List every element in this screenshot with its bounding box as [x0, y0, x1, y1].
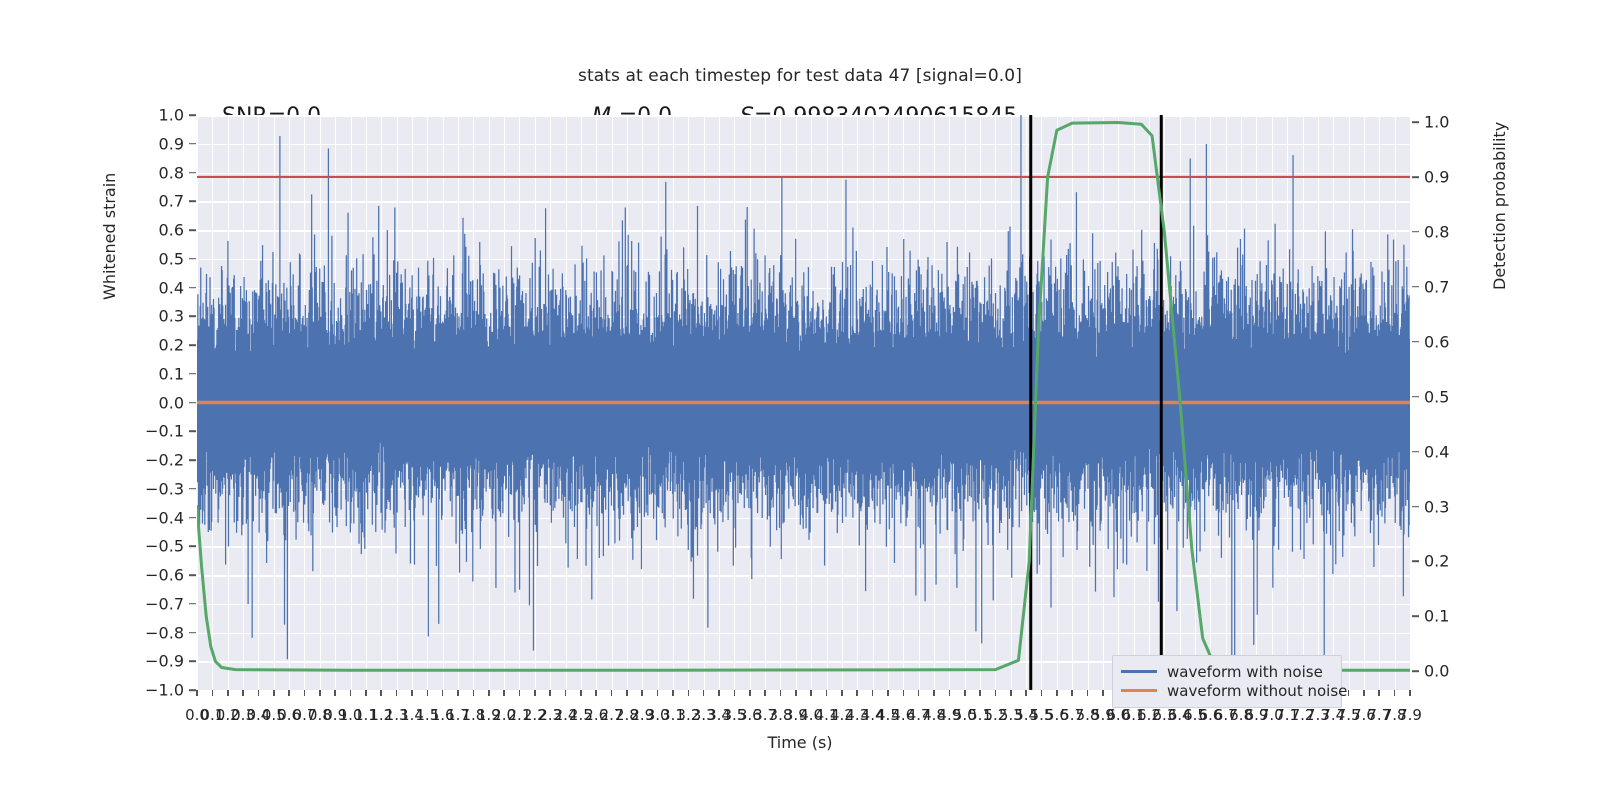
x-tick-mark	[672, 690, 674, 696]
legend-label-waveform-with-noise: waveform with noise	[1167, 663, 1323, 681]
y-tick-label-right: 0.0	[1424, 662, 1478, 681]
x-tick-mark	[380, 690, 382, 696]
x-tick-mark	[918, 690, 920, 696]
x-tick-mark	[565, 690, 567, 696]
y-tick-label-left: 0.4	[132, 278, 184, 297]
x-tick-mark	[734, 690, 736, 696]
x-tick-label: 7.9	[1398, 706, 1422, 724]
x-tick-mark	[626, 690, 628, 696]
x-tick-mark	[718, 690, 720, 696]
y-tick-mark-left	[189, 373, 196, 375]
x-tick-mark	[764, 690, 766, 696]
waveform-trace	[197, 115, 1409, 667]
y-tick-mark-right	[1412, 616, 1419, 618]
y-tick-mark-left	[189, 258, 196, 260]
y-tick-label-right: 0.9	[1424, 167, 1478, 186]
y-tick-mark-left	[189, 402, 196, 404]
y-tick-mark-left	[189, 632, 196, 634]
y-tick-label-left: −0.7	[132, 594, 184, 613]
y-tick-label-right: 0.6	[1424, 332, 1478, 351]
x-tick-mark	[503, 690, 505, 696]
y-tick-label-left: 0.3	[132, 307, 184, 326]
y-tick-mark-left	[189, 172, 196, 174]
y-tick-label-left: 0.7	[132, 192, 184, 211]
y-tick-label-left: 0.9	[132, 134, 184, 153]
x-tick-mark	[212, 690, 214, 696]
y-tick-label-left: −0.2	[132, 451, 184, 470]
y-tick-mark-right	[1412, 121, 1419, 123]
y-tick-mark-left	[189, 287, 196, 289]
x-tick-mark	[488, 690, 490, 696]
y-tick-mark-left	[189, 574, 196, 576]
y-tick-mark-left	[189, 114, 196, 116]
x-tick-mark	[319, 690, 321, 696]
x-tick-mark	[641, 690, 643, 696]
x-tick-mark	[288, 690, 290, 696]
y-tick-mark-right	[1412, 286, 1419, 288]
y-tick-mark-right	[1412, 176, 1419, 178]
x-tick-mark	[1378, 690, 1380, 696]
y-tick-label-left: 0.0	[132, 393, 184, 412]
x-tick-mark	[350, 690, 352, 696]
x-tick-mark	[1087, 690, 1089, 696]
y-axis-label-left: Whitened strain	[100, 173, 119, 300]
y-tick-label-right: 0.1	[1424, 607, 1478, 626]
y-tick-mark-left	[189, 229, 196, 231]
x-tick-mark	[995, 690, 997, 696]
y-axis-label-right: Detection probability	[1490, 122, 1509, 290]
x-tick-mark	[1348, 690, 1350, 696]
y-tick-mark-left	[189, 545, 196, 547]
x-tick-mark	[442, 690, 444, 696]
x-tick-mark	[856, 690, 858, 696]
y-tick-mark-left	[189, 315, 196, 317]
x-tick-mark	[1041, 690, 1043, 696]
y-tick-label-left: 0.2	[132, 336, 184, 355]
y-tick-label-right: 0.5	[1424, 387, 1478, 406]
x-tick-mark	[519, 690, 521, 696]
y-tick-mark-left	[189, 143, 196, 145]
figure-canvas: stats at each timestep for test data 47 …	[0, 0, 1600, 800]
legend-label-waveform-without-noise: waveform without noise	[1167, 682, 1347, 700]
y-tick-label-left: −0.9	[132, 652, 184, 671]
y-tick-label-left: −0.6	[132, 566, 184, 585]
y-tick-label-left: −0.1	[132, 422, 184, 441]
x-tick-mark	[473, 690, 475, 696]
x-tick-mark	[611, 690, 613, 696]
y-tick-label-left: −0.3	[132, 479, 184, 498]
y-tick-mark-left	[189, 660, 196, 662]
y-tick-mark-left	[189, 689, 196, 691]
x-tick-mark	[1025, 690, 1027, 696]
series-overlay	[197, 115, 1410, 690]
waveform-with-noise-series	[197, 115, 1409, 667]
x-tick-mark	[549, 690, 551, 696]
y-tick-label-right: 0.3	[1424, 497, 1478, 516]
x-tick-mark	[258, 690, 260, 696]
x-tick-mark	[242, 690, 244, 696]
y-tick-mark-right	[1412, 506, 1419, 508]
x-tick-mark	[903, 690, 905, 696]
x-tick-mark	[334, 690, 336, 696]
x-tick-mark	[580, 690, 582, 696]
x-tick-mark	[979, 690, 981, 696]
x-tick-mark	[365, 690, 367, 696]
legend-swatch-waveform-without-noise	[1121, 689, 1157, 692]
x-tick-mark	[703, 690, 705, 696]
y-tick-label-left: −0.8	[132, 623, 184, 642]
y-tick-label-left: 1.0	[132, 106, 184, 125]
y-tick-label-left: 0.1	[132, 364, 184, 383]
x-tick-mark	[1102, 690, 1104, 696]
x-tick-mark	[749, 690, 751, 696]
y-tick-mark-left	[189, 488, 196, 490]
x-tick-mark	[657, 690, 659, 696]
y-tick-mark-right	[1412, 231, 1419, 233]
x-tick-mark	[933, 690, 935, 696]
x-tick-mark	[1010, 690, 1012, 696]
y-tick-mark-left	[189, 459, 196, 461]
x-tick-mark	[595, 690, 597, 696]
x-tick-mark	[534, 690, 536, 696]
y-tick-mark-right	[1412, 341, 1419, 343]
x-tick-mark	[196, 690, 198, 696]
x-tick-mark	[688, 690, 690, 696]
y-tick-label-left: −0.5	[132, 537, 184, 556]
x-axis-label: Time (s)	[0, 733, 1600, 752]
y-tick-mark-right	[1412, 396, 1419, 398]
legend-item-waveform-without-noise[interactable]: waveform without noise	[1121, 681, 1333, 700]
y-tick-label-left: 0.8	[132, 163, 184, 182]
x-tick-mark	[964, 690, 966, 696]
y-tick-label-right: 0.7	[1424, 277, 1478, 296]
x-tick-mark	[396, 690, 398, 696]
y-tick-label-right: 0.2	[1424, 552, 1478, 571]
x-tick-mark	[457, 690, 459, 696]
x-tick-mark	[1394, 690, 1396, 696]
x-tick-mark	[1071, 690, 1073, 696]
legend-item-waveform-with-noise[interactable]: waveform with noise	[1121, 662, 1333, 681]
x-tick-mark	[780, 690, 782, 696]
y-tick-label-right: 0.8	[1424, 222, 1478, 241]
x-tick-mark	[841, 690, 843, 696]
y-tick-mark-right	[1412, 451, 1419, 453]
x-tick-mark	[949, 690, 951, 696]
x-tick-mark	[810, 690, 812, 696]
plot-area	[197, 115, 1410, 690]
x-tick-mark	[304, 690, 306, 696]
legend-swatch-waveform-with-noise	[1121, 670, 1157, 673]
x-tick-mark	[411, 690, 413, 696]
x-tick-mark	[1409, 690, 1411, 696]
x-tick-mark	[887, 690, 889, 696]
y-tick-label-left: 0.5	[132, 249, 184, 268]
y-tick-label-left: 0.6	[132, 221, 184, 240]
y-tick-label-right: 0.4	[1424, 442, 1478, 461]
x-tick-mark	[872, 690, 874, 696]
x-tick-mark	[227, 690, 229, 696]
y-tick-mark-left	[189, 517, 196, 519]
y-tick-mark-left	[189, 430, 196, 432]
x-tick-mark	[273, 690, 275, 696]
x-tick-mark	[826, 690, 828, 696]
y-tick-mark-left	[189, 603, 196, 605]
y-tick-mark-left	[189, 200, 196, 202]
x-tick-mark	[1056, 690, 1058, 696]
x-tick-mark	[427, 690, 429, 696]
y-tick-mark-left	[189, 344, 196, 346]
y-tick-label-right: 1.0	[1424, 113, 1478, 132]
y-tick-label-left: −1.0	[132, 681, 184, 700]
x-tick-mark	[795, 690, 797, 696]
x-tick-mark	[1363, 690, 1365, 696]
y-tick-mark-right	[1412, 671, 1419, 673]
y-tick-mark-right	[1412, 561, 1419, 563]
y-tick-label-left: −0.4	[132, 508, 184, 527]
legend[interactable]: waveform with noise waveform without noi…	[1112, 655, 1342, 708]
chart-title: stats at each timestep for test data 47 …	[0, 66, 1600, 86]
